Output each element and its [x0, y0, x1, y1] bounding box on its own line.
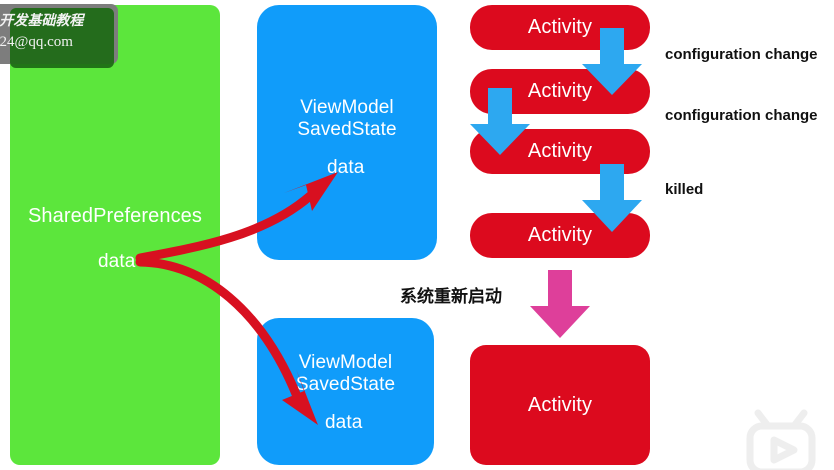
- viewmodel-title-line-2: SavedState: [257, 119, 437, 141]
- activity-label: Activity: [528, 140, 592, 163]
- activity-label: Activity: [528, 224, 592, 247]
- transition-label-configuration-change-1: configuration change: [665, 46, 818, 63]
- viewmodel-title-line-1: ViewModel: [257, 97, 437, 119]
- pink-down-arrow-icon: [530, 270, 590, 338]
- restart-label: 系统重新启动: [400, 282, 502, 307]
- watermark-text: l 开发基础教程 024@qq.com: [0, 12, 132, 54]
- viewmodel-savedstate-box-top: ViewModel SavedState data: [257, 5, 437, 260]
- shared-preferences-data-label: data: [98, 251, 135, 273]
- watermark-line-1: l 开发基础教程: [0, 12, 132, 32]
- transition-label-killed: killed: [665, 181, 703, 198]
- viewmodel-title-bottom: ViewModel SavedState: [257, 352, 434, 397]
- tv-logo-icon: [742, 404, 828, 470]
- viewmodel-data-label-bottom: data: [325, 412, 362, 434]
- viewmodel-title-line-2: SavedState: [257, 374, 434, 396]
- activity-label: Activity: [528, 80, 592, 103]
- watermark-line-2: 024@qq.com: [0, 32, 132, 54]
- activity-box-4: Activity: [470, 213, 650, 258]
- activity-box-restarted: Activity: [470, 345, 650, 465]
- shared-preferences-box: SharedPreferences data: [10, 5, 220, 465]
- transition-label-configuration-change-2: configuration change: [665, 107, 818, 124]
- activity-box-1: Activity: [470, 5, 650, 50]
- viewmodel-data-label-top: data: [327, 157, 364, 179]
- activity-label: Activity: [528, 16, 592, 39]
- viewmodel-title-top: ViewModel SavedState: [257, 97, 437, 142]
- viewmodel-title-line-1: ViewModel: [257, 352, 434, 374]
- activity-box-2: Activity: [470, 69, 650, 114]
- activity-label: Activity: [528, 394, 592, 417]
- diagram-canvas: SharedPreferences data ViewModel SavedSt…: [0, 0, 834, 470]
- viewmodel-savedstate-box-bottom: ViewModel SavedState data: [257, 318, 434, 465]
- activity-box-3: Activity: [470, 129, 650, 174]
- shared-preferences-title: SharedPreferences: [10, 205, 220, 229]
